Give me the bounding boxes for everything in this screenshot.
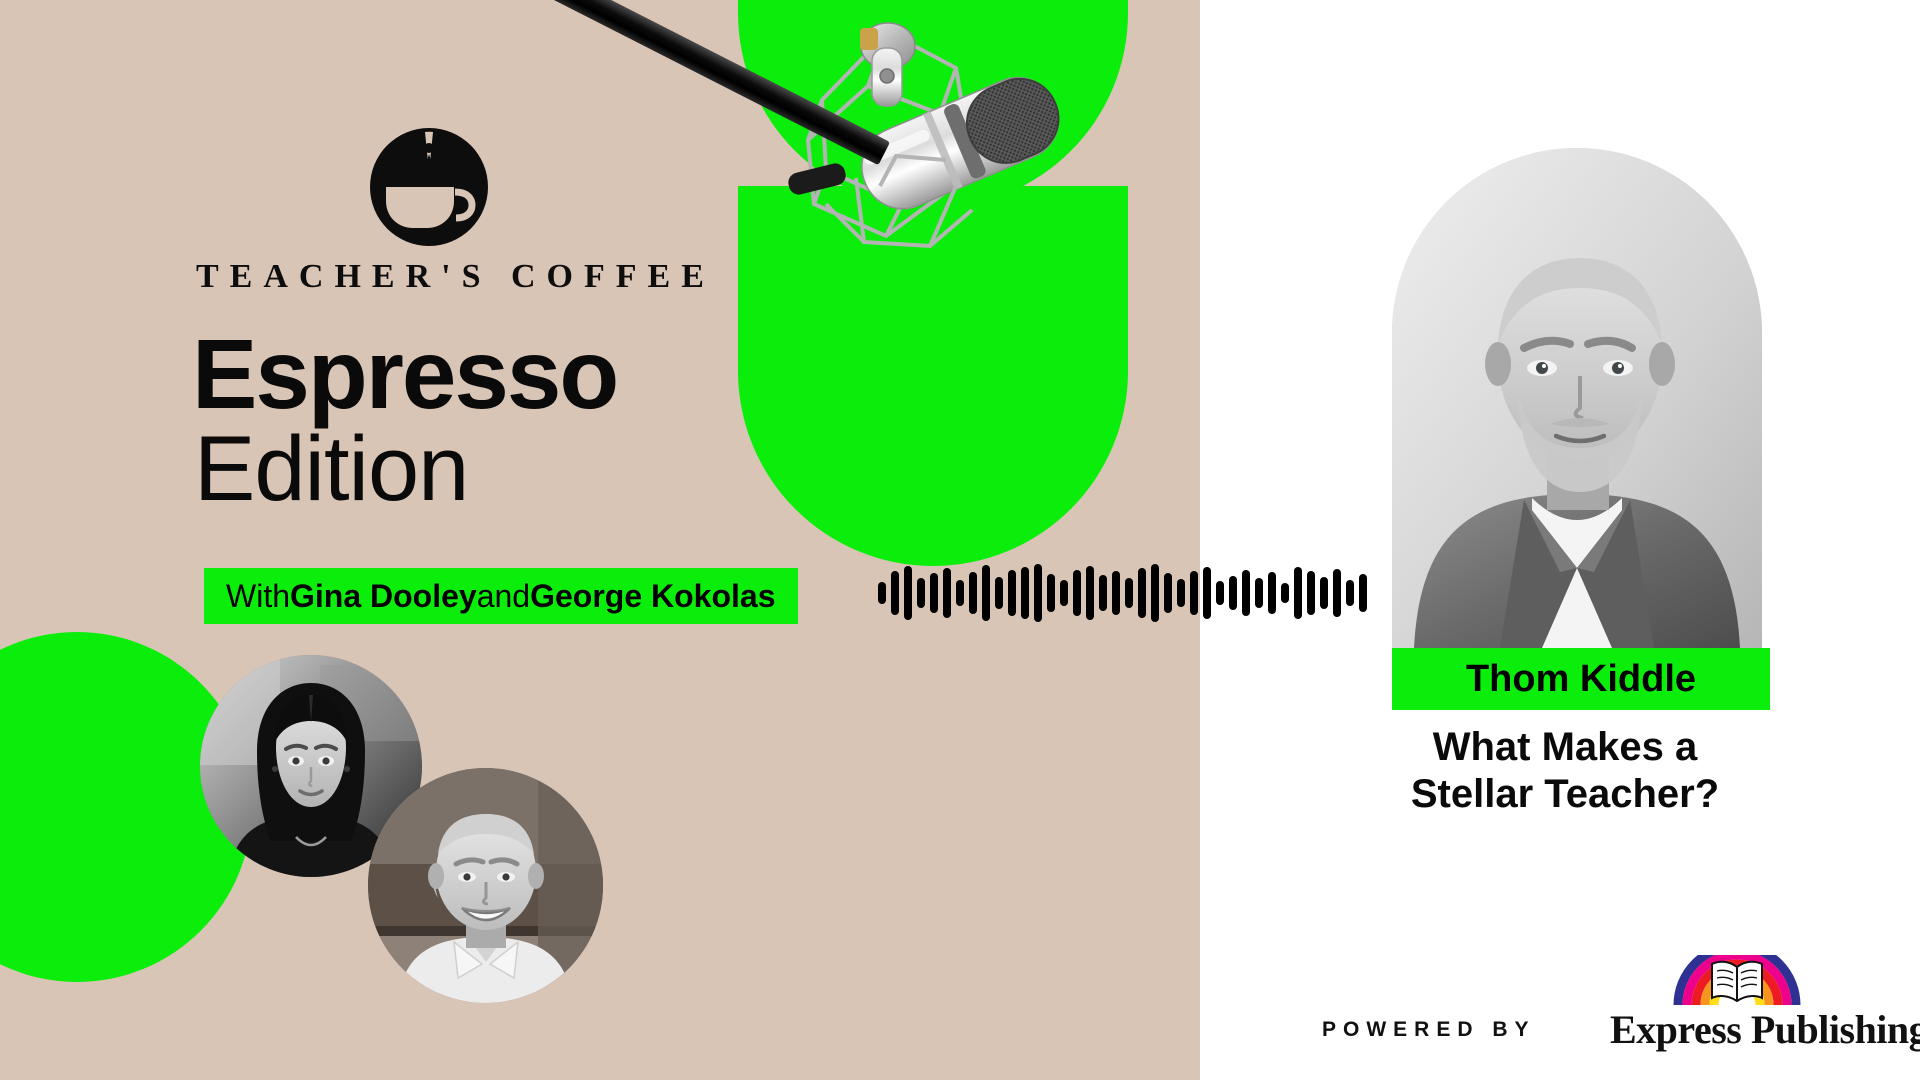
waveform-bar xyxy=(1307,571,1315,615)
waveform-bar xyxy=(930,573,938,613)
waveform-bar xyxy=(1216,581,1224,605)
waveform-bar xyxy=(1112,571,1120,615)
waveform-bar xyxy=(982,565,990,621)
waveform-bar xyxy=(1190,571,1198,615)
waveform-bar xyxy=(1255,578,1263,608)
hosts-banner: With Gina Dooley and George Kokolas xyxy=(204,568,798,624)
waveform-bar xyxy=(1203,567,1211,619)
waveform-bar xyxy=(995,577,1003,609)
waveform-bar xyxy=(1099,575,1107,611)
episode-topic-line-2: Stellar Teacher? xyxy=(1330,771,1800,818)
waveform-bar xyxy=(1073,570,1081,616)
waveform-bar xyxy=(1021,567,1029,619)
podcast-cover-stage: TEACHER'S COFFEE Espresso Edition With G… xyxy=(0,0,1920,1080)
coffee-cup-icon xyxy=(370,128,488,246)
waveform-bar xyxy=(1086,566,1094,620)
title-line-espresso: Espresso xyxy=(192,325,617,423)
waveform-bar xyxy=(1281,583,1289,603)
title-line-edition: Edition xyxy=(194,423,468,515)
brand-wordmark: TEACHER'S COFFEE xyxy=(196,258,715,296)
waveform-bar xyxy=(1047,574,1055,612)
waveform-bar xyxy=(969,572,977,614)
host-avatar-george xyxy=(368,768,603,1003)
hosts-conjunction: and xyxy=(477,578,530,615)
episode-topic: What Makes a Stellar Teacher? xyxy=(1330,724,1800,818)
waveform-bar xyxy=(1060,580,1068,606)
waveform-bar xyxy=(1359,574,1367,612)
powered-by-label: POWERED BY xyxy=(1322,1018,1536,1042)
studio-microphone-icon xyxy=(760,0,1120,300)
waveform-bar xyxy=(1268,572,1276,614)
waveform-bar xyxy=(1164,573,1172,613)
waveform-bar xyxy=(904,566,912,620)
waveform-bar xyxy=(1034,564,1042,622)
waveform-bar xyxy=(1138,568,1146,618)
publisher-name: Express Publishing xyxy=(1610,1006,1920,1053)
guest-name-banner: Thom Kiddle xyxy=(1392,648,1770,710)
waveform-bar xyxy=(891,571,899,615)
waveform-bar xyxy=(956,580,964,606)
guest-portrait xyxy=(1392,148,1762,648)
waveform-bar xyxy=(917,578,925,608)
waveform-bar xyxy=(878,582,886,604)
waveform-bar xyxy=(943,568,951,618)
express-publishing-logo: Express Publishing xyxy=(1610,955,1870,1053)
waveform-bar xyxy=(1242,570,1250,616)
host-name-1: Gina Dooley xyxy=(290,578,477,615)
waveform-bar xyxy=(1125,578,1133,608)
waveform-bar xyxy=(1008,570,1016,616)
episode-topic-line-1: What Makes a xyxy=(1330,724,1800,771)
waveform-bar xyxy=(1346,580,1354,606)
waveform-bar xyxy=(1177,579,1185,607)
open-book-rainbow-icon xyxy=(1672,955,1802,1005)
hosts-prefix: With xyxy=(226,578,290,615)
waveform-bar xyxy=(1333,569,1341,617)
waveform-bar xyxy=(1294,567,1302,619)
waveform-bar xyxy=(1229,576,1237,610)
audio-waveform-icon xyxy=(878,562,1338,624)
waveform-bar xyxy=(1151,564,1159,622)
waveform-bar xyxy=(1320,577,1328,609)
host-name-2: George Kokolas xyxy=(530,578,775,615)
